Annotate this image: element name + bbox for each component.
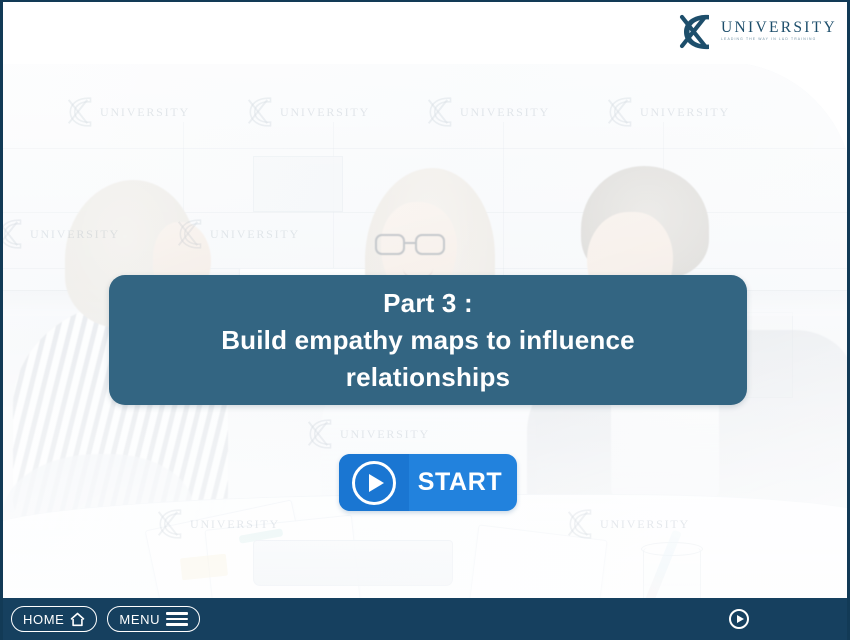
menu-button[interactable]: MENU (107, 606, 200, 632)
brand-wordmark: UNIVERSITY LEADING THE WAY IN L&D TRAINI… (721, 20, 837, 44)
play-circle-icon[interactable] (339, 454, 409, 511)
brand-name: UNIVERSITY (721, 20, 837, 36)
home-button-label: HOME (23, 612, 64, 627)
slide-title-line-1: Part 3 : (383, 285, 473, 322)
header-bar: UNIVERSITY LEADING THE WAY IN L&D TRAINI… (3, 2, 850, 64)
slide-title-line-3: relationships (346, 359, 510, 396)
course-slide: UNIVERSITY LEADING THE WAY IN L&D TRAINI… (0, 0, 850, 640)
start-button[interactable]: START (339, 454, 517, 511)
slide-title-panel: Part 3 : Build empathy maps to influence… (109, 275, 747, 405)
next-button[interactable] (729, 609, 749, 629)
house-icon (70, 612, 85, 627)
brand-logo: UNIVERSITY LEADING THE WAY IN L&D TRAINI… (675, 10, 837, 54)
brand-tagline: LEADING THE WAY IN L&D TRAINING (721, 38, 837, 41)
menu-button-label: MENU (119, 612, 160, 627)
bottom-navigation-bar: HOME MENU (3, 598, 850, 640)
home-button[interactable]: HOME (11, 606, 97, 632)
start-button-label: START (409, 468, 517, 497)
x-monogram-icon (675, 11, 717, 53)
hamburger-icon (166, 612, 188, 626)
slide-title-line-2: Build empathy maps to influence (221, 322, 635, 359)
